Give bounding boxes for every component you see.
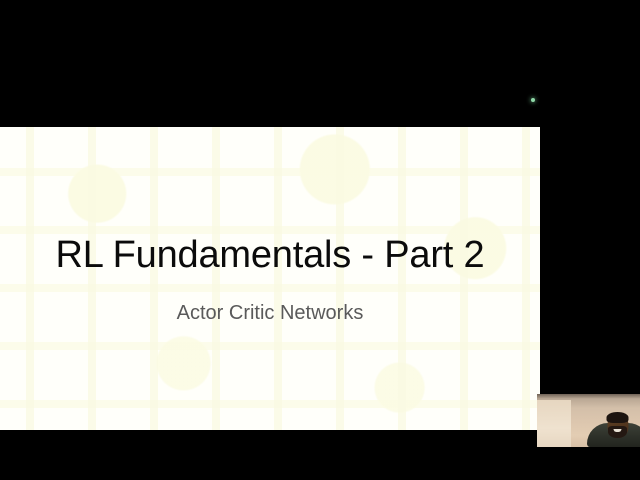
webcam-background-wall (537, 394, 640, 447)
slide-title: RL Fundamentals - Part 2 (0, 235, 540, 277)
slide-content: RL Fundamentals - Part 2 Actor Critic Ne… (0, 127, 540, 430)
webcam-pip-panel[interactable] (537, 394, 640, 447)
letterbox-right (540, 127, 640, 430)
recording-led-icon (531, 98, 535, 102)
video-player-stage[interactable]: RL Fundamentals - Part 2 Actor Critic Ne… (0, 0, 640, 480)
presenter-head (607, 413, 628, 438)
slide-subtitle: Actor Critic Networks (0, 302, 540, 324)
presentation-slide[interactable]: RL Fundamentals - Part 2 Actor Critic Ne… (0, 127, 540, 430)
webcam-presenter-figure (587, 413, 640, 447)
presenter-hair (607, 412, 629, 423)
presenter-beard (608, 426, 627, 438)
webcam-wall-left-panel (537, 400, 571, 447)
letterbox-top (0, 0, 640, 127)
